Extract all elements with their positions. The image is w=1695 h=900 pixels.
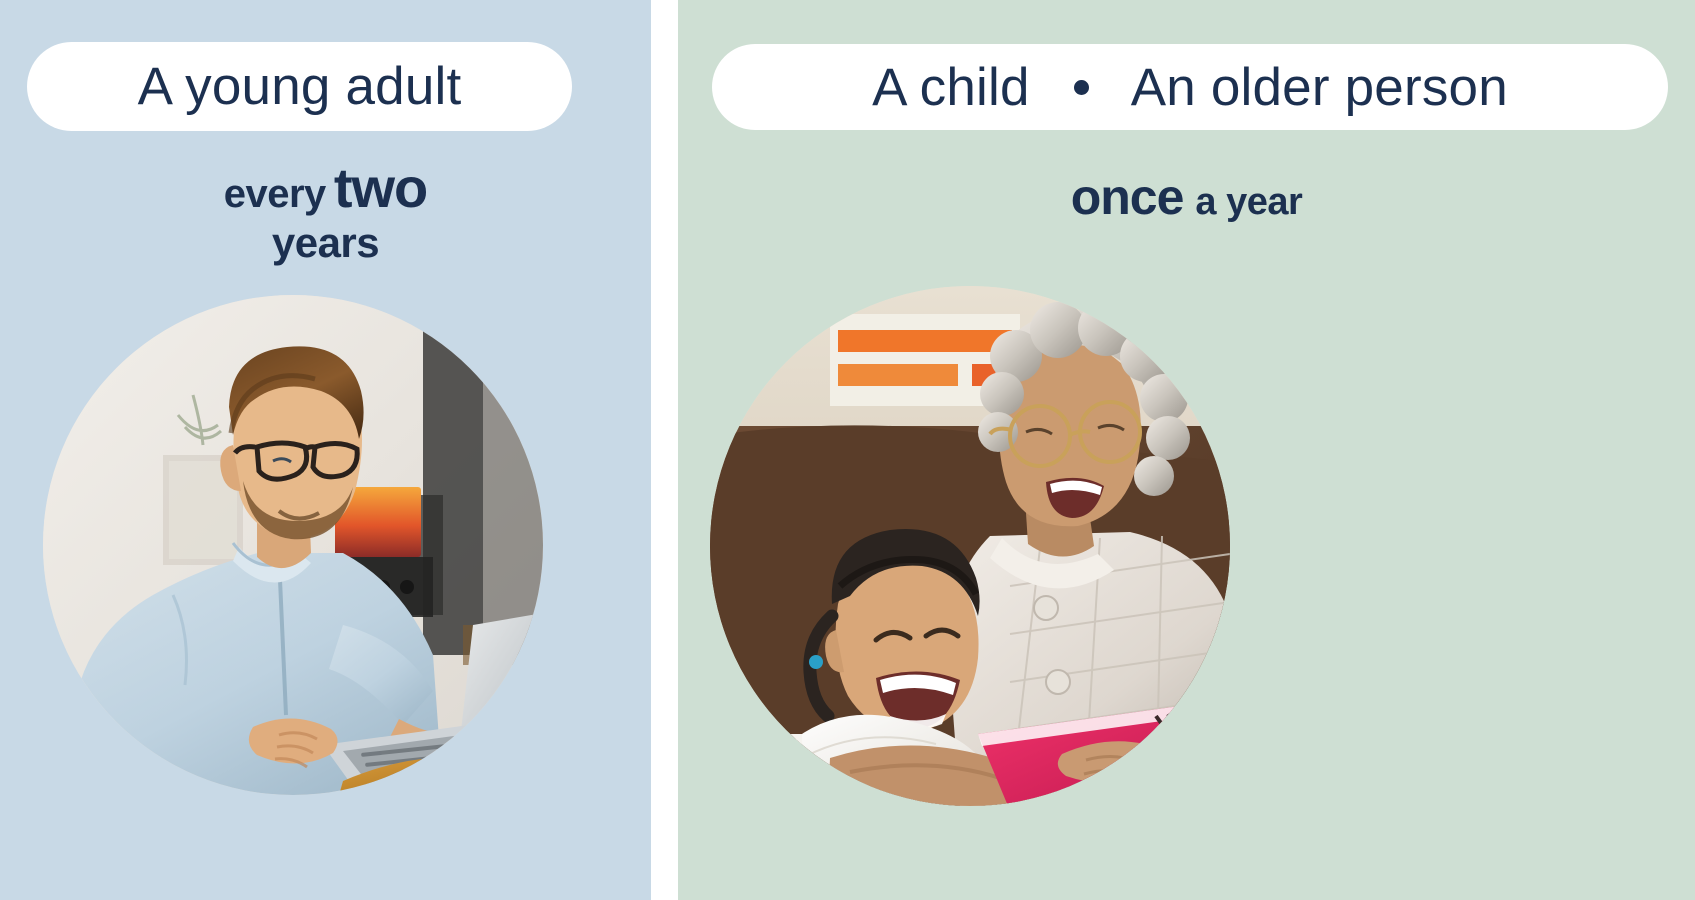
heading-label-child: A child bbox=[868, 57, 1034, 118]
photo-young-adult-illustration bbox=[43, 295, 543, 795]
heading-pill-child-older-person: A child An older person bbox=[712, 44, 1668, 130]
heading-label-older-person: An older person bbox=[1127, 57, 1512, 118]
frequency-line-2: years bbox=[0, 222, 651, 264]
frequency-word-a-year: a year bbox=[1195, 181, 1302, 223]
bullet-dot-icon bbox=[1074, 80, 1089, 95]
frequency-word-every: every bbox=[224, 172, 326, 216]
frequency-young-adult: everytwo years bbox=[0, 160, 651, 264]
frequency-word-once: once bbox=[1071, 169, 1184, 225]
frequency-line-1: everytwo bbox=[0, 160, 651, 216]
frequency-word-two: two bbox=[334, 156, 427, 219]
frequency-word-years: years bbox=[272, 219, 379, 266]
photo-young-adult bbox=[43, 295, 543, 795]
heading-label-young-adult: A young adult bbox=[138, 56, 462, 117]
panel-young-adult: A young adult everytwo years bbox=[0, 0, 651, 900]
heading-pill-young-adult: A young adult bbox=[27, 42, 572, 131]
photo-child-older-person bbox=[710, 286, 1230, 806]
panel-child-older-person: A child An older person oncea year bbox=[678, 0, 1695, 900]
frequency-child-older-person: oncea year bbox=[678, 172, 1695, 222]
photo-child-older-person-illustration bbox=[710, 286, 1230, 806]
comparison-poster: A young adult everytwo years bbox=[0, 0, 1695, 900]
panel-divider bbox=[651, 0, 678, 900]
